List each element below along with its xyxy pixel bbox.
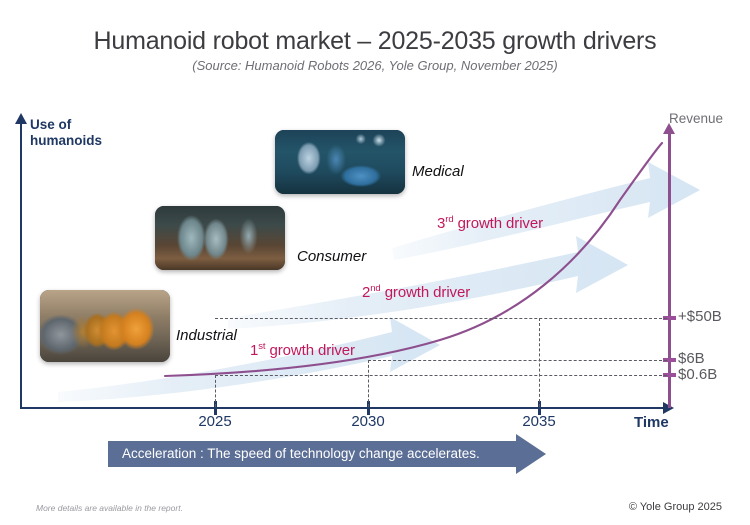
category-label-consumer: Consumer — [297, 248, 366, 265]
growth-driver-1-ordinal: 1 — [250, 342, 258, 359]
growth-driver-label-2: 2nd growth driver — [362, 284, 470, 301]
y-axis-line — [20, 122, 22, 409]
growth-driver-3-suffix: rd — [445, 214, 453, 225]
x-tick-label-2030: 2030 — [351, 413, 384, 430]
dashed-line-06b — [215, 375, 667, 376]
revenue-axis-line — [668, 133, 671, 408]
page-subtitle: (Source: Humanoid Robots 2026, Yole Grou… — [0, 58, 750, 73]
growth-driver-3-ordinal: 3 — [437, 215, 445, 232]
dashed-line-2035 — [539, 318, 540, 407]
acceleration-banner-text: Acceleration : The speed of technology c… — [122, 441, 480, 467]
revenue-tick-label-50b: +$50B — [678, 308, 722, 325]
growth-driver-2-suffix: nd — [370, 283, 380, 294]
category-label-medical: Medical — [412, 163, 464, 180]
dashed-line-50b — [215, 318, 667, 319]
x-axis-line — [20, 407, 670, 409]
growth-driver-label-3: 3rd growth driver — [437, 215, 543, 232]
photo-industrial — [40, 290, 170, 362]
y-axis-label-line2: humanoids — [30, 133, 102, 149]
growth-driver-2-text: growth driver — [381, 284, 470, 301]
growth-arrow-2 — [228, 236, 628, 329]
dashed-line-2030 — [368, 360, 369, 407]
y-axis-label-line1: Use of — [30, 117, 102, 133]
dashed-line-6b — [368, 360, 667, 361]
growth-driver-1-text: growth driver — [265, 342, 354, 359]
x-axis-label: Time — [634, 414, 669, 431]
revenue-axis-label: Revenue — [669, 111, 723, 126]
dashed-line-2025 — [215, 375, 216, 407]
slide-canvas: Humanoid robot market – 2025-2035 growth… — [0, 0, 750, 525]
category-label-industrial: Industrial — [176, 327, 237, 344]
revenue-tick-label-6b: $6B — [678, 350, 705, 367]
revenue-tick-label-06b: $0.6B — [678, 366, 717, 383]
acceleration-banner: Acceleration : The speed of technology c… — [108, 441, 546, 467]
footer-note: More details are available in the report… — [36, 503, 183, 513]
photo-consumer — [155, 206, 285, 270]
photo-medical — [275, 130, 405, 194]
growth-driver-2-ordinal: 2 — [362, 284, 370, 301]
page-title: Humanoid robot market – 2025-2035 growth… — [0, 27, 750, 56]
footer-copyright: © Yole Group 2025 — [629, 501, 722, 513]
growth-driver-3-text: growth driver — [454, 215, 543, 232]
x-tick-label-2025: 2025 — [198, 413, 231, 430]
y-axis-label: Use of humanoids — [30, 117, 102, 149]
x-tick-label-2035: 2035 — [522, 413, 555, 430]
growth-driver-label-1: 1st growth driver — [250, 342, 355, 359]
